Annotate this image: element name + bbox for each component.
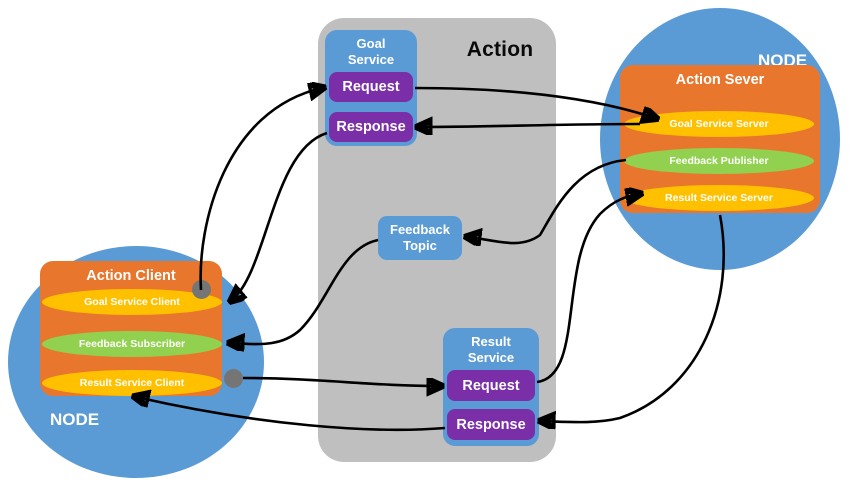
result-client-connection-dot <box>224 369 243 388</box>
goal-service-response-box[interactable]: Response <box>329 112 413 142</box>
client-node-label: NODE <box>50 410 99 430</box>
result-service-client-pill[interactable]: Result Service Client <box>42 370 222 396</box>
result-service-response-box[interactable]: Response <box>447 409 535 440</box>
goal-service-request-box[interactable]: Request <box>329 72 413 102</box>
feedback-topic-title-line1: Feedback <box>390 222 450 237</box>
feedback-topic-title: Feedback Topic <box>390 222 450 254</box>
arrow-goal-response-to-client <box>232 133 327 300</box>
action-server-title: Action Sever <box>620 72 820 88</box>
result-service-title-line2: Service <box>468 350 514 365</box>
result-service-title: Result Service <box>443 334 539 367</box>
result-service-request-box[interactable]: Request <box>447 370 535 401</box>
goal-service-server-pill[interactable]: Goal Service Server <box>624 111 814 137</box>
feedback-topic-box[interactable]: Feedback Topic <box>378 216 462 260</box>
feedback-publisher-pill[interactable]: Feedback Publisher <box>624 148 814 174</box>
feedback-subscriber-pill[interactable]: Feedback Subscriber <box>42 331 222 357</box>
goal-service-title: Goal Service <box>325 36 417 69</box>
goal-service-title-line1: Goal <box>357 36 386 51</box>
action-panel-label: Action <box>440 38 560 62</box>
result-service-server-pill[interactable]: Result Service Server <box>624 185 814 211</box>
arrow-goal-client-to-request <box>201 88 322 290</box>
goal-service-title-line2: Service <box>348 52 394 67</box>
action-diagram-canvas: Action NODE Action Client Goal Service C… <box>0 0 854 480</box>
feedback-topic-title-line2: Topic <box>403 238 437 253</box>
result-service-title-line1: Result <box>471 334 511 349</box>
goal-client-connection-dot <box>192 280 211 299</box>
